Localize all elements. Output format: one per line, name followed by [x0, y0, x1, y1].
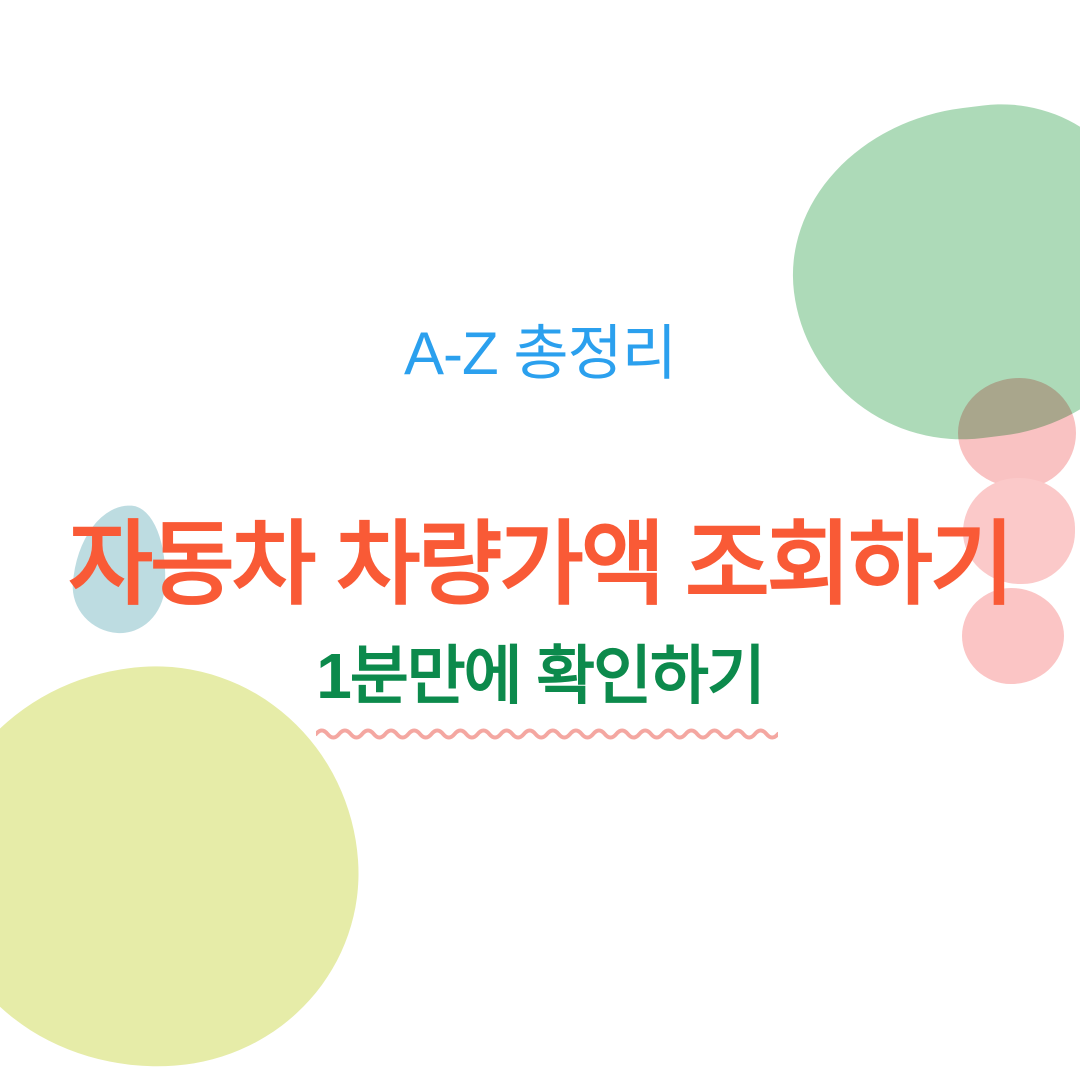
text-stack: A-Z 총정리 자동차 차량가액 조회하기 1분만에 확인하기 — [0, 0, 1080, 1080]
wavy-underline-decoration — [316, 723, 778, 745]
thumbnail-canvas: A-Z 총정리 자동차 차량가액 조회하기 1분만에 확인하기 — [0, 0, 1080, 1080]
subheadline-wrap: 1분만에 확인하기 — [0, 643, 1080, 710]
subheadline-label: 1분만에 확인하기 — [316, 643, 764, 710]
page-title: 자동차 차량가액 조회하기 — [0, 517, 1080, 614]
eyebrow-label: A-Z 총정리 — [0, 324, 1080, 384]
